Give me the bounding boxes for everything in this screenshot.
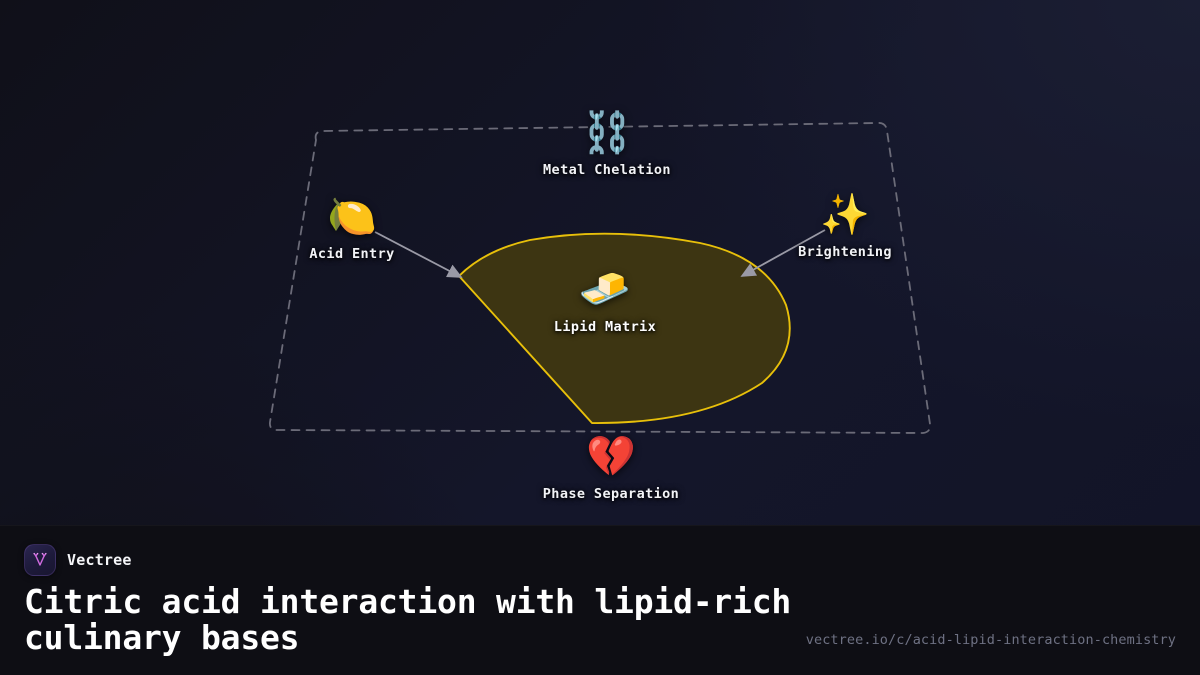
- node-acid-entry[interactable]: 🍋 Acid Entry: [237, 194, 467, 262]
- page-title: Citric acid interaction with lipid-rich …: [24, 584, 824, 656]
- node-brightening[interactable]: ✨ Brightening: [730, 192, 960, 260]
- node-acid-entry-label: Acid Entry: [309, 246, 394, 262]
- node-metal-chelation[interactable]: ⛓️ Metal Chelation: [492, 110, 722, 178]
- footer-bar: Vectree Citric acid interaction with lip…: [0, 525, 1200, 675]
- lemon-icon: 🍋: [327, 194, 377, 240]
- chains-icon: ⛓️: [582, 110, 632, 156]
- brand[interactable]: Vectree: [24, 544, 132, 576]
- node-brightening-label: Brightening: [798, 244, 892, 260]
- broken-heart-icon: 💔: [586, 434, 636, 480]
- node-phase-separation[interactable]: 💔 Phase Separation: [496, 434, 726, 502]
- butter-icon: 🧈: [579, 265, 631, 313]
- screenshot-root: ⛓️ Metal Chelation 🍋 Acid Entry ✨ Bright…: [0, 0, 1200, 675]
- node-metal-chelation-label: Metal Chelation: [543, 162, 671, 178]
- vectree-logo-icon: [24, 544, 56, 576]
- node-lipid-matrix[interactable]: 🧈 Lipid Matrix: [490, 265, 720, 335]
- diagram-canvas[interactable]: ⛓️ Metal Chelation 🍋 Acid Entry ✨ Bright…: [0, 0, 1200, 525]
- node-phase-separation-label: Phase Separation: [543, 486, 679, 502]
- brand-name: Vectree: [67, 551, 132, 569]
- sparkles-icon: ✨: [820, 192, 870, 238]
- source-url: vectree.io/c/acid-lipid-interaction-chem…: [806, 632, 1176, 648]
- node-lipid-matrix-label: Lipid Matrix: [554, 319, 656, 335]
